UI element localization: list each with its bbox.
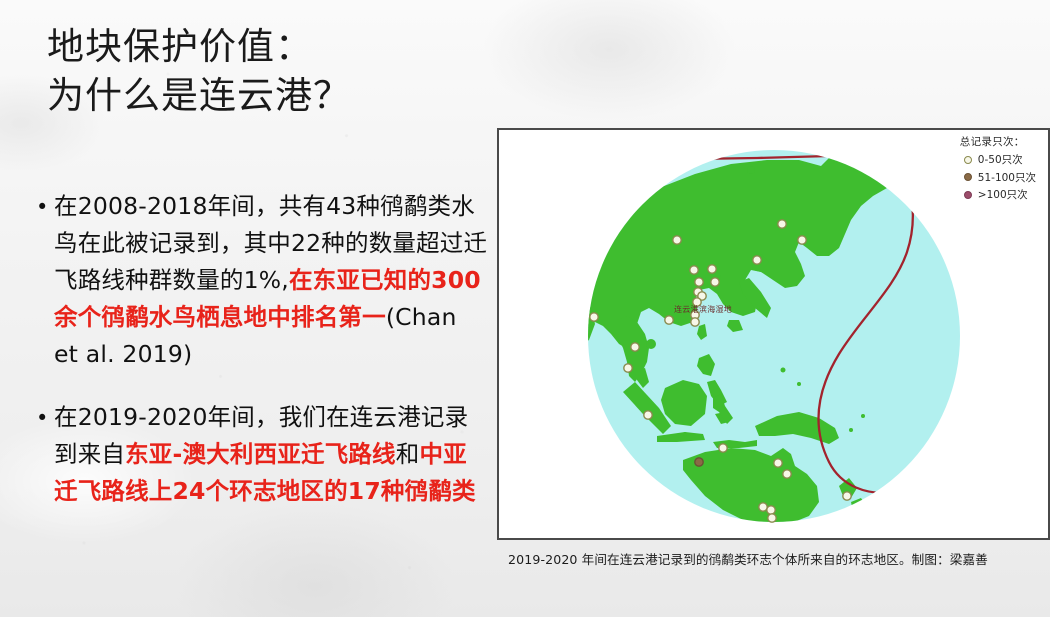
globe-map: 连云港滨海湿地 总记录只次： 0-50只次 51-100只次 >100只次 [499, 130, 1048, 538]
land-island-g [683, 432, 687, 436]
bullet-text-1: 在2008-2018年间，共有43种鸻鹬类水鸟在此被记录到，其中22种的数量超过… [54, 188, 488, 373]
figure-caption: 2019-2020 年间在连云港记录到的鸻鹬类环志个体所来自的环志地区。制图：梁… [508, 549, 1048, 568]
ringing-site-marker [590, 313, 598, 321]
legend-title: 总记录只次： [960, 134, 1036, 149]
ringing-site-marker [783, 470, 791, 478]
legend-swatch-51-100-icon [964, 173, 972, 181]
bullet-list: • 在2008-2018年间，共有43种鸻鹬类水鸟在此被记录到，其中22种的数量… [36, 188, 488, 536]
ringing-site-marker [711, 278, 719, 286]
land-alaska [919, 150, 961, 186]
land-hainan [646, 339, 656, 349]
ringing-site-marker [690, 266, 698, 274]
ringing-site-marker [673, 236, 681, 244]
ringing-site-marker [631, 343, 639, 351]
ringing-site-marker [778, 220, 786, 228]
ringing-site-marker [665, 316, 673, 324]
ringing-site-marker [843, 492, 851, 500]
ringing-site-marker [753, 256, 761, 264]
ringing-site-marker [798, 236, 806, 244]
bullet-2-seg-1: 东亚-澳大利西亚迁飞路线 [125, 440, 396, 468]
land-island-f [861, 414, 865, 418]
bullet-2-seg-2: 和 [396, 440, 420, 468]
map-place-label: 连云港滨海湿地 [674, 304, 732, 315]
legend-label-2: >100只次 [978, 187, 1028, 202]
legend-item-2: >100只次 [964, 187, 1036, 202]
land-island-d [797, 382, 801, 386]
ringing-site-marker [774, 459, 782, 467]
ringing-site-marker [759, 503, 767, 511]
legend-swatch-0-50-icon [964, 156, 972, 164]
ringing-site-marker [695, 278, 703, 286]
land-island-a [747, 166, 755, 174]
ringing-site-marker [768, 514, 776, 522]
bullet-marker: • [36, 399, 54, 510]
ringing-site-marker [708, 265, 716, 273]
list-item: • 在2008-2018年间，共有43种鸻鹬类水鸟在此被记录到，其中22种的数量… [36, 188, 488, 373]
land-island-e [849, 428, 853, 432]
land-island-b [690, 151, 700, 161]
ringing-site-marker [644, 411, 652, 419]
legend-item-1: 51-100只次 [964, 170, 1036, 185]
ringing-site-marker [691, 318, 699, 326]
slide-canvas: 地块保护价值： 为什么是连云港？ • 在2008-2018年间，共有43种鸻鹬类… [0, 0, 1050, 617]
legend-item-0: 0-50只次 [964, 152, 1036, 167]
map-legend: 总记录只次： 0-50只次 51-100只次 >100只次 [960, 134, 1036, 205]
bullet-marker: • [36, 188, 54, 373]
ringing-site-marker [695, 458, 703, 466]
legend-label-0: 0-50只次 [978, 152, 1023, 167]
legend-swatch-over-100-icon [964, 191, 972, 199]
land-tasmania [785, 528, 799, 538]
ringing-site-marker [767, 506, 775, 514]
list-item: • 在2019-2020年间，我们在连云港记录到来自东亚-澳大利西亚迁飞路线和中… [36, 399, 488, 510]
land-island-c [781, 368, 786, 373]
bullet-text-2: 在2019-2020年间，我们在连云港记录到来自东亚-澳大利西亚迁飞路线和中亚迁… [54, 399, 488, 510]
page-title: 地块保护价值： 为什么是连云港？ [47, 22, 477, 120]
legend-label-1: 51-100只次 [978, 170, 1036, 185]
ringing-site-marker [624, 364, 632, 372]
ringing-site-marker [719, 444, 727, 452]
map-figure-panel: 连云港滨海湿地 总记录只次： 0-50只次 51-100只次 >100只次 [497, 128, 1050, 540]
